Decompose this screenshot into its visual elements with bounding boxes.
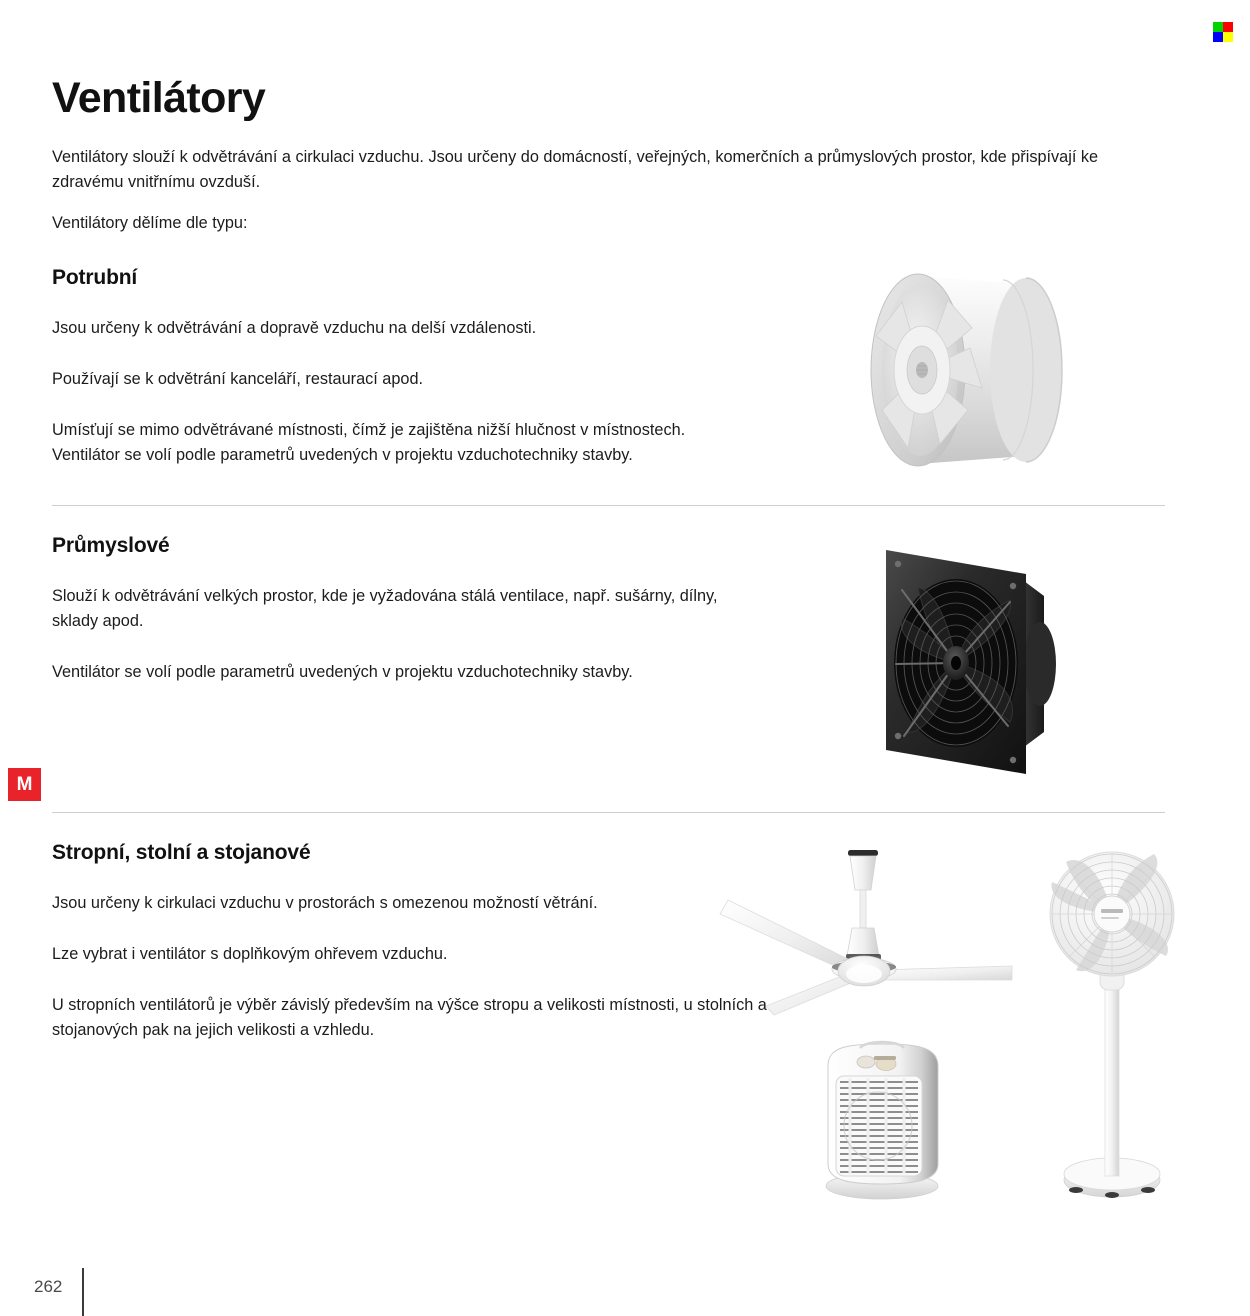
duct-fan-photo [830,258,1100,488]
logo-tile-green [1213,22,1223,32]
logo-tile-red [1223,22,1233,32]
section-prumyslove-paragraph-1: Slouží k odvětrávání velkých prostor, kd… [52,584,752,634]
section-heading-stropni: Stropní, stolní a stojanové [52,841,812,865]
intro-paragraph-2: Ventilátory dělíme dle typu: [52,211,248,236]
footer-divider [82,1268,84,1316]
four-color-square-logo [1213,22,1233,42]
section-potrubni: Potrubní Jsou určeny k odvětrávání a dop… [52,266,752,468]
page-number: 262 [34,1277,62,1297]
chapter-badge: M [8,768,41,801]
section-potrubni-paragraph-2: Používají se k odvětrání kanceláří, rest… [52,367,752,392]
section-stropni-stolni-stojanove: Stropní, stolní a stojanové Jsou určeny … [52,841,812,1043]
chapter-badge-letter: M [17,774,33,796]
section-stropni-paragraph-3: U stropních ventilátorů je výběr závislý… [52,993,812,1043]
section-prumyslove: Průmyslové Slouží k odvětrávání velkých … [52,534,752,685]
logo-tile-blue [1213,32,1223,42]
industrial-wall-fan-photo [868,536,1080,786]
fan-heater-photo [798,1038,968,1203]
section-prumyslove-paragraph-2: Ventilátor se volí podle parametrů uvede… [52,660,752,685]
section-heading-potrubni: Potrubní [52,266,752,290]
ceiling-fan-photo [706,838,1026,1018]
section-stropni-paragraph-1: Jsou určeny k cirkulaci vzduchu v prosto… [52,891,812,916]
section-stropni-paragraph-2: Lze vybrat i ventilátor s doplňkovým ohř… [52,942,812,967]
section-divider-2 [52,812,1165,813]
catalog-page: Ventilátory a rozvody vzduchu M Ventilát… [0,0,1250,1316]
section-heading-prumyslove: Průmyslové [52,534,752,558]
section-potrubni-paragraph-1: Jsou určeny k odvětrávání a dopravě vzdu… [52,316,752,341]
chapter-side-tab: Ventilátory a rozvody vzduchu [0,496,30,756]
pedestal-fan-photo [1028,840,1196,1208]
logo-tile-yellow [1223,32,1233,42]
page-title: Ventilátory [52,74,265,123]
intro-paragraph-1: Ventilátory slouží k odvětrávání a cirku… [52,145,1167,195]
section-potrubni-paragraph-3: Umísťují se mimo odvětrávané místnosti, … [52,418,752,468]
section-divider-1 [52,505,1165,506]
